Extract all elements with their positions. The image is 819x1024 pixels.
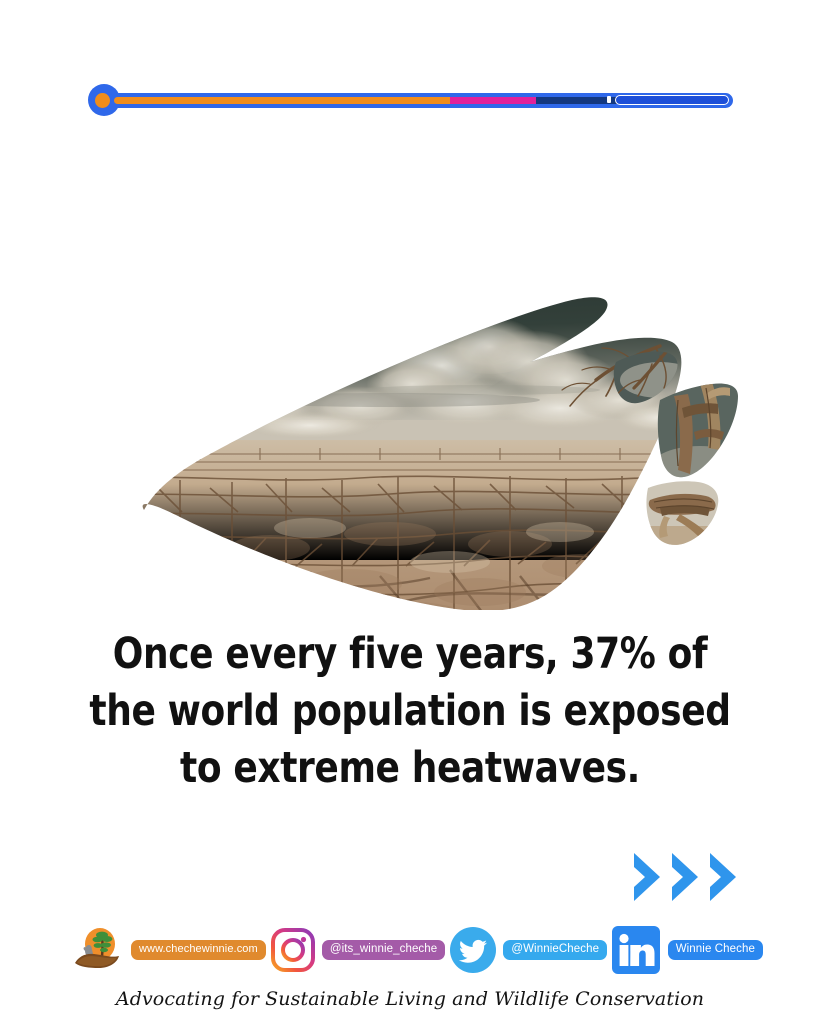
heat-gauge — [88, 84, 733, 116]
website-handle[interactable]: www.chechewinnie.com — [131, 940, 266, 960]
social-item-instagram[interactable]: @its_winnie_cheche — [269, 924, 445, 976]
linkedin-handle[interactable]: Winnie Cheche — [668, 940, 763, 961]
chevron-right-icon — [629, 849, 665, 905]
social-item-linkedin[interactable]: Winnie Cheche — [610, 924, 763, 976]
hero-main-stroke — [60, 278, 760, 610]
hero-image — [60, 148, 760, 610]
heat-gauge-segment-magenta — [450, 97, 536, 104]
linkedin-icon — [610, 924, 662, 976]
heat-gauge-white-cap — [615, 95, 729, 105]
page-headline: Once every five years, 37% of the world … — [80, 626, 740, 797]
chevron-right-icon — [667, 849, 703, 905]
instagram-icon — [269, 926, 317, 974]
social-item-website[interactable]: www.chechewinnie.com — [73, 924, 266, 976]
heat-gauge-segment-orange — [114, 97, 450, 104]
tagline-text: Advocating for Sustainable Living and Wi… — [116, 988, 704, 1010]
instagram-handle[interactable]: @its_winnie_cheche — [322, 940, 445, 961]
social-item-twitter[interactable]: @WinnieCheche — [448, 924, 607, 976]
heat-gauge-bulb-mercury — [95, 93, 110, 108]
chechewinnie-logo-icon — [73, 925, 125, 975]
twitter-handle[interactable]: @WinnieCheche — [503, 940, 607, 961]
chevron-right-icon — [705, 849, 741, 905]
twitter-icon — [448, 925, 498, 975]
swipe-chevrons[interactable] — [629, 849, 741, 905]
tagline-row: Advocating for Sustainable Living and Wi… — [140, 978, 680, 1020]
heat-gauge-tick — [607, 96, 611, 103]
social-links-row: www.chechewinnie.com @its_winnie_cheche — [73, 924, 763, 976]
hero-fragment-lower-right — [640, 476, 730, 554]
